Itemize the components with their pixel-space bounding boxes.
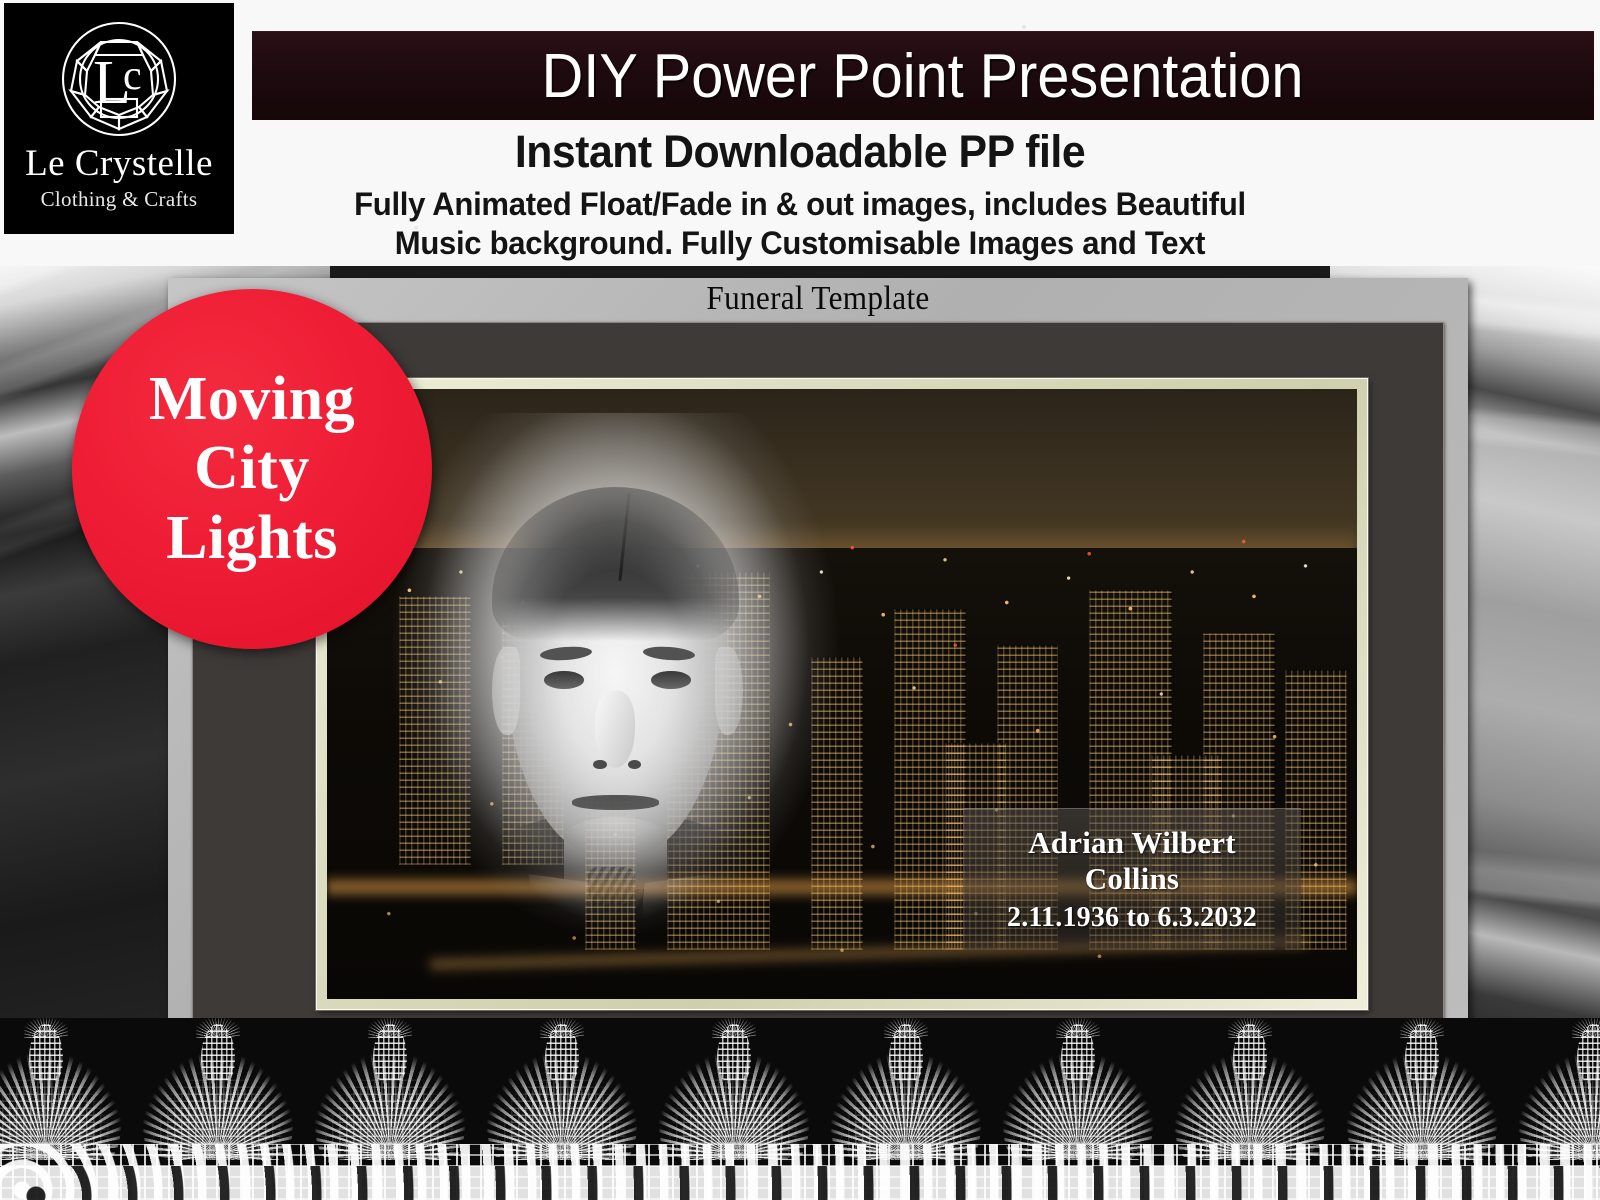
svg-text:c: c [123,53,142,99]
page-title: DIY Power Point Presentation [542,41,1304,112]
portrait-chin [560,817,671,867]
lace-crown [24,1018,68,1038]
portrait-tie-knot [588,867,636,906]
portrait-ear-left [492,647,520,735]
header-subtitle: Instant Downloadable PP file [40,126,1560,178]
portrait-nose [595,691,635,768]
portrait-ear-right [715,647,743,735]
diamond-gem-icon: L c [57,17,181,141]
slide-frame-title: Funeral Template [220,280,1416,318]
slide-preview-canvas: L c Le Crystelle Clothing & Crafts DIY P… [0,0,1600,1200]
header-description-line-1: Fully Animated Float/Fade in & out image… [24,185,1576,224]
portrait-eye-right [651,671,691,689]
lace-crown [368,1018,412,1038]
title-banner: DIY Power Point Presentation [252,31,1594,120]
lace-crown [1056,1018,1100,1038]
portrait-container [379,413,853,999]
lace-crown [884,1018,928,1038]
memorial-name-line-2: Collins [1028,861,1235,897]
portrait-necktie [592,889,644,999]
memorial-dates: 2.11.1936 to 6.3.2032 [1007,902,1257,934]
header-description-line-2: Music background. Fully Customisable Ima… [24,224,1576,263]
lace-crown [1400,1018,1444,1038]
lace-crown [540,1018,584,1038]
lace-border [0,1018,1600,1200]
portrait-photo [416,449,814,999]
header-description: Fully Animated Float/Fade in & out image… [24,185,1576,263]
memorial-text-box[interactable]: Adrian Wilbert Collins 2.11.1936 to 6.3.… [963,808,1301,950]
memorial-name: Adrian Wilbert Collins [1028,825,1235,897]
lace-crown [712,1018,756,1038]
badge-line-1: Moving [149,365,355,434]
portrait-hair [492,487,739,641]
badge-line-2: City [194,434,310,503]
moving-city-lights-badge[interactable]: Moving City Lights [72,289,432,649]
portrait-eye-left [544,671,584,689]
lace-crown [196,1018,240,1038]
lace-crown [1572,1018,1600,1038]
badge-line-3: Lights [166,504,338,573]
portrait-mouth [572,795,660,809]
lace-base-scallops [0,1166,1600,1200]
lace-crown [1228,1018,1272,1038]
memorial-name-line-1: Adrian Wilbert [1028,825,1235,861]
